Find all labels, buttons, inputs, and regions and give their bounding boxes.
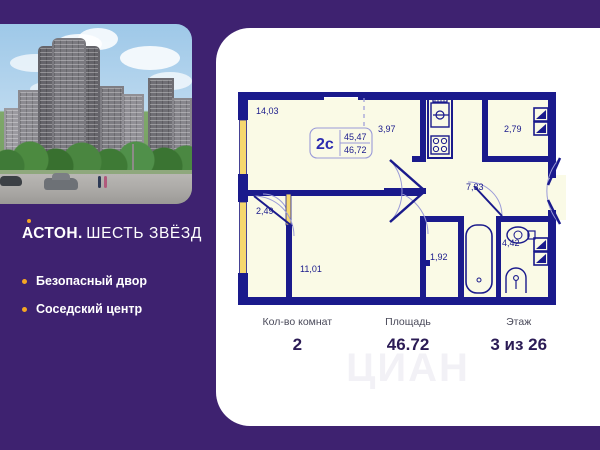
stat-label: Площадь xyxy=(353,316,464,328)
road xyxy=(0,174,192,204)
brand-logo: АСТОН . ШЕСТЬ ЗВЁЗД xyxy=(22,225,202,243)
stat-area: Площадь 46.72 xyxy=(353,316,464,355)
window-left-lower xyxy=(238,200,248,275)
room-area-storage: 1,92 xyxy=(430,252,448,262)
list-item: Безопасный двор xyxy=(22,275,207,289)
room-area-entry: 7,33 xyxy=(466,182,484,192)
room-area-balcony: 2,79 xyxy=(504,124,522,134)
badge-room-type: 2с xyxy=(316,136,334,153)
badge-area-total: 46,72 xyxy=(344,145,367,155)
stat-value: 46.72 xyxy=(353,335,464,355)
stat-floor: Этаж 3 из 26 xyxy=(463,316,574,355)
promo-panel: АСТОН . ШЕСТЬ ЗВЁЗД Безопасный двор Сосе… xyxy=(0,0,216,450)
room-area-corridor: 2,49 xyxy=(256,206,274,216)
brand-name: АСТОН xyxy=(22,225,78,243)
bullet-icon xyxy=(22,307,27,312)
stat-value: 2 xyxy=(242,335,353,355)
floorplan-card: ЦИАН .w { fill:#1A1A8C; } .rm { fill:#FA… xyxy=(216,28,600,426)
stat-rooms: Кол-во комнат 2 xyxy=(242,316,353,355)
window-left-upper xyxy=(238,118,248,176)
person-icon xyxy=(104,176,107,188)
person-icon xyxy=(98,176,101,188)
floorplan-drawing[interactable]: .w { fill:#1A1A8C; } .rm { fill:#FAFAE6;… xyxy=(234,90,579,310)
stat-label: Кол-во комнат xyxy=(242,316,353,328)
brand-tagline: ШЕСТЬ ЗВЁЗД xyxy=(86,225,202,243)
plan-badge: 2с 45,47 46,72 xyxy=(310,128,372,158)
room-area-bedroom: 11,01 xyxy=(300,264,322,274)
room-area-living: 14,03 xyxy=(256,106,279,116)
badge-area-living: 45,47 xyxy=(344,132,367,142)
feature-label: Соседский центр xyxy=(36,303,142,317)
room-area-bathroom: 4,42 xyxy=(502,238,520,248)
building-photo xyxy=(0,24,192,204)
feature-label: Безопасный двор xyxy=(36,275,147,289)
stat-value: 3 из 26 xyxy=(463,335,574,355)
accent-dot-icon xyxy=(27,219,31,223)
feature-list: Безопасный двор Соседский центр xyxy=(22,275,207,331)
list-item: Соседский центр xyxy=(22,303,207,317)
cloud-icon xyxy=(120,46,180,70)
stat-label: Этаж xyxy=(463,316,574,328)
stats-bar: Кол-во комнат 2 Площадь 46.72 Этаж 3 из … xyxy=(216,316,600,355)
bullet-icon xyxy=(22,279,27,284)
room-area-kitchen: 3,97 xyxy=(378,124,396,134)
car-icon xyxy=(0,176,22,186)
brand-period: . xyxy=(78,225,82,243)
car-icon xyxy=(44,178,78,190)
